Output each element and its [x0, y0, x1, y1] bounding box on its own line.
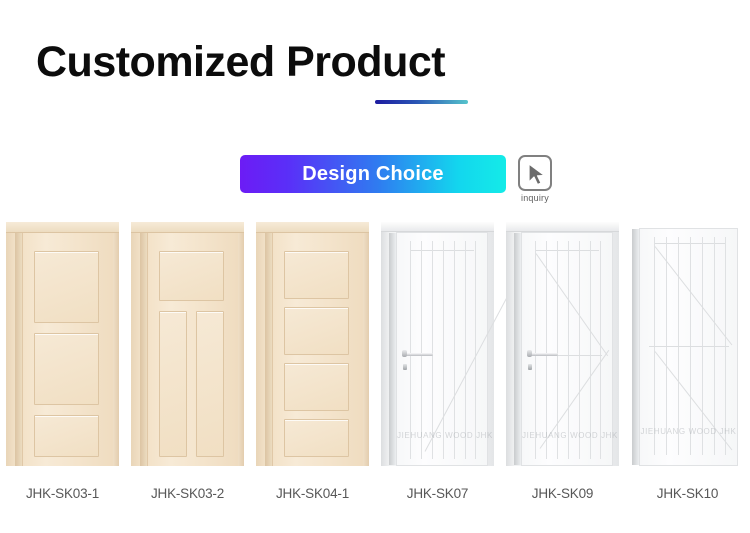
- door-image-jhk-sk09: JIEHUANG WOOD JHK: [500, 222, 625, 472]
- door-image-jhk-sk03-2: [125, 222, 250, 472]
- door-image-jhk-sk10: JIEHUANG WOOD JHK: [625, 222, 750, 472]
- product-label: JHK-SK03-1: [26, 486, 99, 501]
- door-panel: [196, 311, 224, 457]
- cursor-arrow-icon: [518, 155, 552, 191]
- product-card[interactable]: JHK-SK04-1: [250, 222, 375, 512]
- door-plank: [557, 241, 558, 459]
- door-handle: [405, 353, 433, 356]
- product-label: JHK-SK07: [407, 486, 468, 501]
- door-panel: [284, 307, 349, 355]
- door-plank: [465, 241, 466, 459]
- door-slab: [272, 233, 363, 466]
- door-diagonal-brace-lower: [540, 350, 610, 449]
- product-card[interactable]: JIEHUANG WOOD JHK JHK-SK07: [375, 222, 500, 512]
- customized-product-page: Customized Product Design Choice inquiry: [0, 0, 750, 533]
- door-plank: [579, 241, 580, 459]
- product-label: JHK-SK10: [657, 486, 718, 501]
- door-plank: [454, 241, 455, 459]
- door-handle: [530, 353, 558, 356]
- door-plank: [600, 241, 601, 459]
- door-middle-rail: [649, 346, 729, 347]
- product-label: JHK-SK03-2: [151, 486, 224, 501]
- door-panel: [34, 333, 99, 405]
- door-plank: [568, 241, 569, 459]
- door-slab: JIEHUANG WOOD JHK: [521, 232, 613, 466]
- door-slab: [22, 233, 113, 466]
- product-label: JHK-SK09: [532, 486, 593, 501]
- door-panel: [34, 251, 99, 323]
- inquiry-button[interactable]: inquiry: [516, 155, 554, 203]
- title-accent-rule: [375, 100, 468, 104]
- door-handle-rose: [402, 350, 407, 357]
- door-image-jhk-sk07: JIEHUANG WOOD JHK: [375, 222, 500, 472]
- cursor-arrow-glyph: [528, 163, 548, 186]
- page-title: Customized Product: [36, 40, 445, 85]
- product-card[interactable]: JIEHUANG WOOD JHK JHK-SK09: [500, 222, 625, 512]
- door-panel: [284, 419, 349, 457]
- product-card[interactable]: JIEHUANG WOOD JHK JHK-SK10: [625, 222, 750, 512]
- door-image-jhk-sk04-1: [250, 222, 375, 472]
- inquiry-label: inquiry: [521, 193, 549, 203]
- door-head-jamb: [381, 222, 494, 232]
- door-head-jamb: [6, 222, 119, 233]
- door-keyhole: [403, 364, 407, 370]
- door-plank: [546, 241, 547, 459]
- door-slab: JIEHUANG WOOD JHK: [639, 228, 738, 466]
- door-plank: [432, 241, 433, 459]
- door-keyhole: [528, 364, 532, 370]
- door-plank: [590, 241, 591, 459]
- door-plank: [475, 241, 476, 459]
- door-plank: [421, 241, 422, 459]
- product-grid: JHK-SK03-1 JHK-SK03-2: [0, 222, 750, 512]
- door-head-jamb: [131, 222, 244, 233]
- door-plank: [535, 241, 536, 459]
- door-image-jhk-sk03-1: [0, 222, 125, 472]
- product-card[interactable]: JHK-SK03-2: [125, 222, 250, 512]
- design-choice-button[interactable]: Design Choice: [240, 155, 506, 193]
- door-handle-rose: [527, 350, 532, 357]
- cta-row: Design Choice inquiry: [240, 155, 554, 203]
- door-head-jamb: [256, 222, 369, 233]
- door-panel: [284, 251, 349, 299]
- product-label: JHK-SK04-1: [276, 486, 349, 501]
- product-card[interactable]: JHK-SK03-1: [0, 222, 125, 512]
- door-slab: [147, 233, 238, 466]
- door-panel: [34, 415, 99, 457]
- door-panel: [159, 251, 224, 301]
- door-head-jamb: [506, 222, 619, 232]
- door-panel: [284, 363, 349, 411]
- door-panel: [159, 311, 187, 457]
- door-plank: [443, 241, 444, 459]
- door-slab: JIEHUANG WOOD JHK: [396, 232, 488, 466]
- door-plank: [410, 241, 411, 459]
